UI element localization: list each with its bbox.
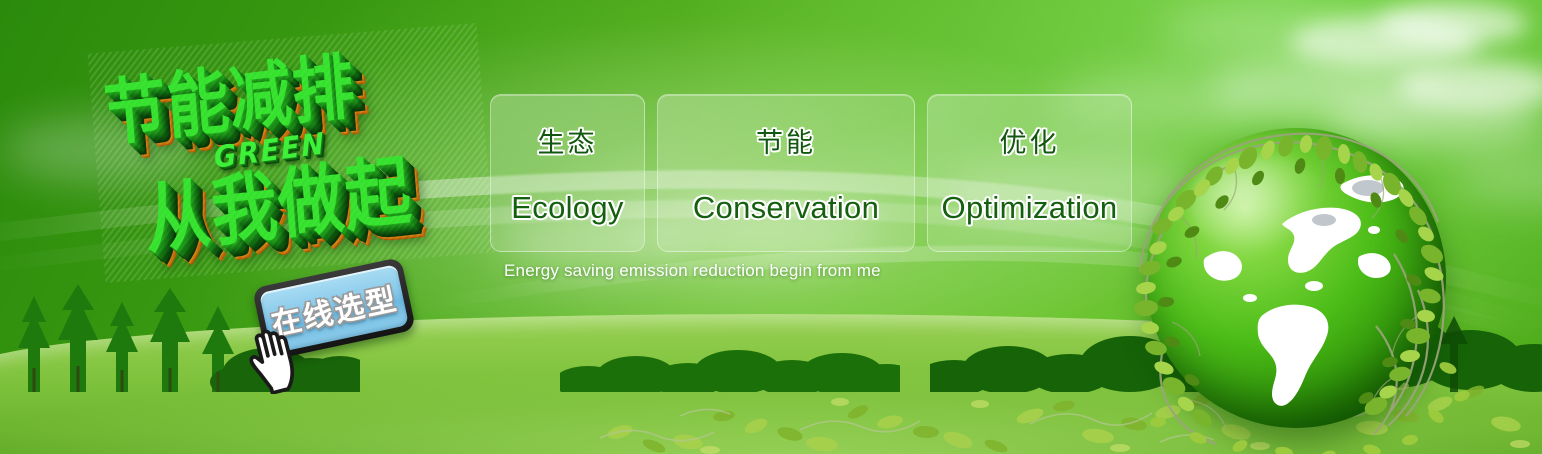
- feature-card-cn-label: 节能: [756, 121, 816, 160]
- feature-card-cn-label: 生态: [538, 121, 598, 160]
- leafy-earth-globe: [1146, 128, 1446, 428]
- feature-card-en-label: Optimization: [942, 190, 1118, 226]
- feature-card-cn-label: 优化: [1000, 121, 1060, 160]
- feature-card-ecology[interactable]: 生态 Ecology: [490, 94, 645, 252]
- cloud-icon: [1290, 16, 1480, 68]
- globe-ivy-overlay: [1118, 104, 1478, 454]
- feature-card-en-label: Conservation: [693, 190, 879, 226]
- banner-tagline: Energy saving emission reduction begin f…: [504, 261, 881, 281]
- hero-title-3d: 节能减排 GREEN 从我做起: [88, 23, 495, 283]
- cloud-icon: [1160, 8, 1340, 54]
- green-energy-banner: 节能减排 GREEN 从我做起 生态 Ecology 节能 Conservati…: [0, 0, 1542, 454]
- feature-card-conservation[interactable]: 节能 Conservation: [657, 94, 915, 252]
- feature-card-optimization[interactable]: 优化 Optimization: [927, 94, 1132, 252]
- globe-leaves: [1133, 133, 1471, 454]
- cloud-icon: [1378, 2, 1528, 46]
- feature-card-en-label: Ecology: [511, 190, 623, 226]
- feature-card-list: 生态 Ecology 节能 Conservation 优化 Optimizati…: [490, 94, 1132, 252]
